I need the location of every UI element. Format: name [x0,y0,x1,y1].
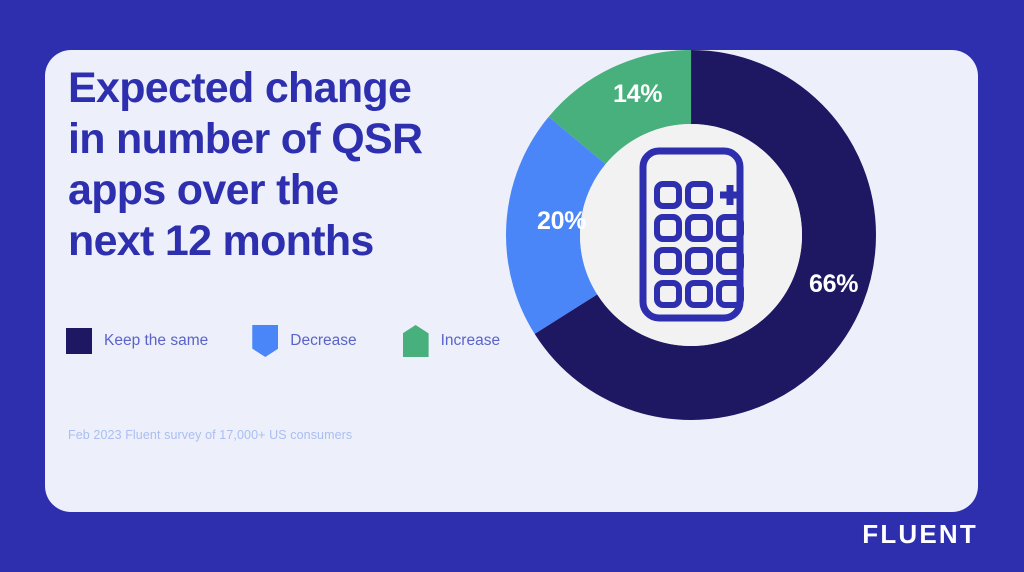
app-tile [657,217,679,239]
app-tile [657,283,679,305]
legend-swatch-square-icon [66,328,92,354]
legend-swatch-arrow-down-icon [252,325,278,357]
app-tile [688,250,710,272]
legend-swatch-arrow-up-icon [403,325,429,357]
donut-value-decrease: 20% [537,207,586,236]
chart-legend: Keep the same Decrease Increase [66,325,500,357]
donut-value-keep-the-same: 66% [809,270,858,299]
app-tile [657,250,679,272]
source-footnote: Feb 2023 Fluent survey of 17,000+ US con… [68,428,352,442]
donut-value-increase: 14% [613,80,662,109]
legend-item-keep-the-same[interactable]: Keep the same [66,328,208,354]
legend-item-increase[interactable]: Increase [403,325,500,357]
fluent-logo: FLUENT [862,519,978,550]
app-tile [688,217,710,239]
legend-label-keep-the-same: Keep the same [104,332,208,350]
infographic-canvas: Expected change in number of QSR apps ov… [0,0,1024,572]
legend-label-decrease: Decrease [290,332,356,350]
app-tile [688,283,710,305]
page-title: Expected change in number of QSR apps ov… [68,63,488,267]
legend-item-decrease[interactable]: Decrease [252,325,356,357]
app-tile [657,184,679,206]
headline-block: Expected change in number of QSR apps ov… [68,63,488,267]
donut-chart: 66% 20% 14% [491,35,891,435]
smartphone-apps-icon [639,147,744,322]
app-tile [688,184,710,206]
